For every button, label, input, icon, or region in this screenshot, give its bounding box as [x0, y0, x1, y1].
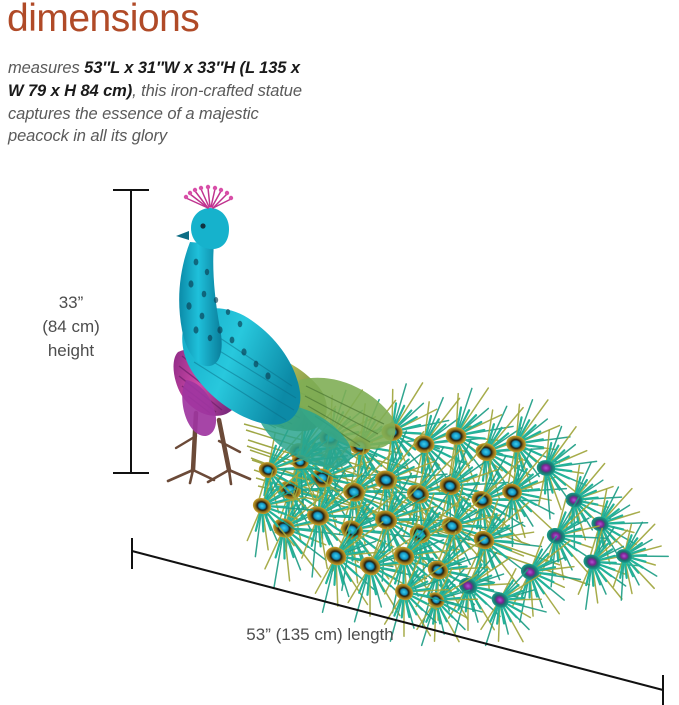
tail-feather [325, 436, 426, 566]
tail-feather [423, 474, 522, 598]
peacock-crest-tips [184, 185, 233, 200]
feather-eye [373, 469, 399, 492]
tail-feather [376, 379, 453, 493]
feather-eye [276, 478, 303, 503]
tail-feather [490, 442, 575, 556]
product-description: measures 53″L x 31″W x 33″H (L 135 x W 7… [8, 57, 308, 148]
tail-feather [235, 460, 324, 570]
tail-feather [363, 424, 455, 550]
peacock-body [182, 308, 300, 424]
peacock-beak [176, 231, 189, 240]
tail-feather [497, 394, 576, 505]
feather-eye [505, 434, 527, 454]
peacock-speckles [186, 259, 270, 380]
tail-feather [287, 460, 391, 591]
feather-eye [518, 561, 542, 583]
tail-feather [283, 418, 352, 515]
length-dimension-cap-left [131, 538, 133, 569]
feather-eye [500, 482, 523, 503]
feather-eye [372, 508, 399, 533]
height-dimension-label: 33” (84 cm) height [22, 291, 120, 363]
tail-feather [554, 456, 628, 555]
tail-feather [455, 447, 551, 570]
feather-eye [270, 515, 298, 541]
description-prefix: measures [8, 59, 84, 77]
feather-eye [340, 480, 367, 505]
height-dimension-cap-bottom [113, 472, 149, 474]
peacock-breast-plumes [174, 349, 240, 436]
tail-feather [452, 488, 556, 613]
tail-feather [530, 490, 617, 599]
peacock-crest [186, 188, 231, 208]
feather-eye [412, 433, 436, 455]
feather-eye [348, 435, 372, 457]
tail-feather [500, 527, 594, 638]
feather-eye [535, 459, 556, 478]
feather-eye [438, 475, 463, 497]
peacock-neck [179, 242, 222, 366]
tail-feather [404, 559, 497, 663]
tail-feather [388, 482, 492, 607]
tail-feather [579, 480, 655, 580]
peacock-tail-feathers [235, 379, 677, 663]
length-dimension-cap-right [662, 675, 664, 705]
feather-eye [489, 589, 511, 611]
feather-eye [290, 453, 310, 470]
tail-feather [438, 383, 518, 499]
tail-feather [462, 399, 552, 520]
tail-feather [261, 434, 362, 564]
peacock-head [191, 208, 229, 249]
feather-eye [323, 543, 350, 569]
peacock-eye [200, 223, 205, 228]
feather-eye [392, 581, 416, 604]
feather-eye [391, 543, 418, 568]
feather-eye [564, 491, 584, 509]
length-dimension-label: 53” (135 cm) length [150, 625, 490, 645]
feather-eye [545, 525, 568, 546]
feather-eye [250, 495, 273, 516]
feather-eye [439, 514, 465, 538]
feather-eye [444, 426, 467, 446]
peacock-wing-coverts [214, 350, 395, 468]
page-title: dimensions [7, 0, 199, 43]
feather-eye [590, 515, 611, 534]
tail-feather [297, 422, 392, 550]
feather-eye [309, 466, 335, 490]
feather-eye [471, 528, 497, 553]
feather-eye [356, 553, 383, 579]
peacock-legs [168, 413, 250, 484]
tail-feather [245, 423, 327, 530]
feather-eye [338, 517, 366, 543]
feather-eye [456, 575, 480, 598]
height-value: 33” [22, 291, 120, 315]
feather-eye [407, 522, 433, 547]
tail-feather [357, 464, 458, 594]
tail-feather [312, 385, 392, 501]
feather-eye [424, 557, 451, 583]
feather-eye [257, 460, 279, 480]
tail-feather [567, 519, 650, 622]
feather-eye [614, 547, 634, 565]
feather-eye [381, 422, 404, 442]
height-dimension-line [130, 190, 132, 474]
tail-feather [389, 438, 490, 568]
tail-feather [278, 399, 365, 518]
tail-feather [318, 475, 428, 608]
tail-feather [528, 421, 602, 525]
tail-feather [426, 433, 516, 554]
height-axis: height [22, 339, 120, 363]
feather-eye [581, 552, 603, 572]
tail-feather [300, 505, 409, 631]
feather-eye [304, 503, 331, 528]
feather-eye [404, 482, 431, 507]
tail-feather [603, 516, 676, 610]
tail-feather [370, 505, 476, 631]
feather-eye [288, 441, 312, 463]
peacock-tail-shafts [244, 424, 590, 585]
feather-eye [469, 488, 495, 511]
height-metric: (84 cm) [22, 315, 120, 339]
feather-eye [318, 428, 341, 448]
tail-feather [468, 559, 561, 663]
feather-eye [425, 589, 447, 611]
tail-feather [338, 393, 425, 512]
tail-feather [250, 473, 360, 606]
feather-eye [474, 441, 499, 463]
tail-feather [402, 391, 489, 510]
tail-feather [333, 516, 444, 642]
